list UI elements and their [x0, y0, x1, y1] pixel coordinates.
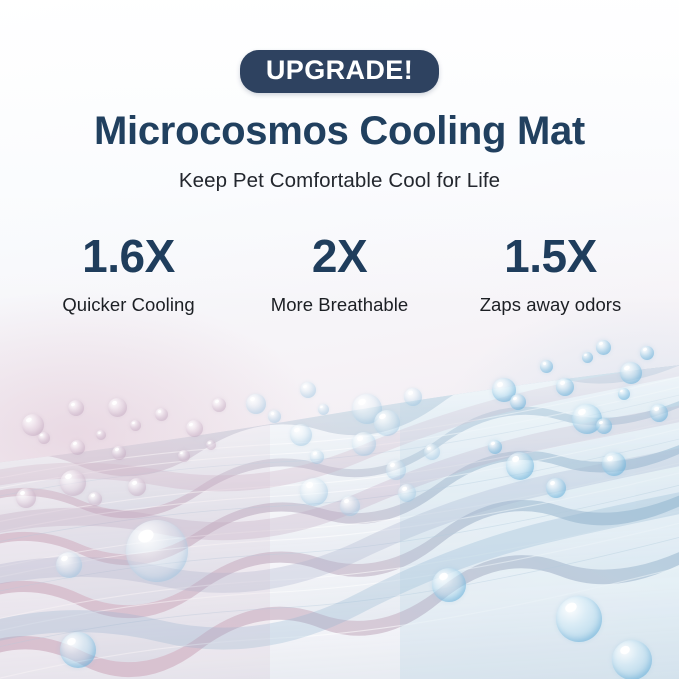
bubble	[640, 346, 654, 360]
bubble	[178, 450, 190, 462]
banner-copy: UPGRADE! Microcosmos Cooling Mat Keep Pe…	[0, 0, 679, 316]
bubble	[206, 440, 216, 450]
bubble	[300, 382, 316, 398]
bubble	[155, 408, 168, 421]
bubble	[488, 440, 502, 454]
bubble	[88, 492, 102, 506]
bubble	[618, 388, 630, 400]
bubble	[340, 496, 360, 516]
bubble	[374, 410, 400, 436]
stat-label: Zaps away odors	[445, 294, 656, 316]
bubble	[650, 404, 668, 422]
bubble	[398, 484, 416, 502]
bubble	[56, 552, 82, 578]
bubble	[128, 478, 146, 496]
bubble	[108, 398, 127, 417]
bubble	[246, 394, 266, 414]
bubble	[126, 520, 188, 582]
stat-zaps-away-odors: 1.5X Zaps away odors	[445, 233, 656, 316]
bubble	[310, 450, 324, 464]
stat-value: 1.6X	[23, 233, 234, 279]
bubble	[506, 452, 534, 480]
product-banner: UPGRADE! Microcosmos Cooling Mat Keep Pe…	[0, 0, 679, 679]
bubble	[60, 632, 96, 668]
bubble	[620, 362, 642, 384]
badge-row: UPGRADE!	[0, 50, 679, 93]
bubble	[186, 420, 203, 437]
bubble	[212, 398, 226, 412]
stat-label: Quicker Cooling	[23, 294, 234, 316]
stat-quicker-cooling: 1.6X Quicker Cooling	[23, 233, 234, 316]
bubble	[318, 404, 329, 415]
bubble	[70, 440, 85, 455]
bubble	[596, 418, 612, 434]
product-title: Microcosmos Cooling Mat	[0, 110, 679, 153]
bubble	[424, 444, 440, 460]
stat-value: 1.5X	[445, 233, 656, 279]
product-subtitle: Keep Pet Comfortable Cool for Life	[0, 169, 679, 193]
bubble	[352, 432, 376, 456]
bubble	[130, 420, 141, 431]
bubble	[510, 394, 526, 410]
bubble	[300, 478, 328, 506]
bubble	[38, 432, 50, 444]
stat-more-breathable: 2X More Breathable	[234, 233, 445, 316]
bubble	[612, 640, 652, 679]
bubble	[546, 478, 566, 498]
bubble	[112, 446, 126, 460]
upgrade-badge: UPGRADE!	[240, 50, 439, 93]
bubble	[404, 388, 422, 406]
bubble	[60, 470, 86, 496]
bubble	[602, 452, 626, 476]
stat-value: 2X	[234, 233, 445, 279]
bubble	[540, 360, 553, 373]
bubble	[596, 340, 611, 355]
stats-row: 1.6X Quicker Cooling 2X More Breathable …	[0, 233, 679, 316]
bubble	[556, 378, 574, 396]
bubble	[582, 352, 593, 363]
bubble	[386, 460, 406, 480]
bubble	[16, 488, 36, 508]
bubble	[96, 430, 106, 440]
bubble	[290, 424, 312, 446]
bubble	[556, 596, 602, 642]
bubble	[268, 410, 281, 423]
stat-label: More Breathable	[234, 294, 445, 316]
bubble	[68, 400, 84, 416]
bubble	[432, 568, 466, 602]
